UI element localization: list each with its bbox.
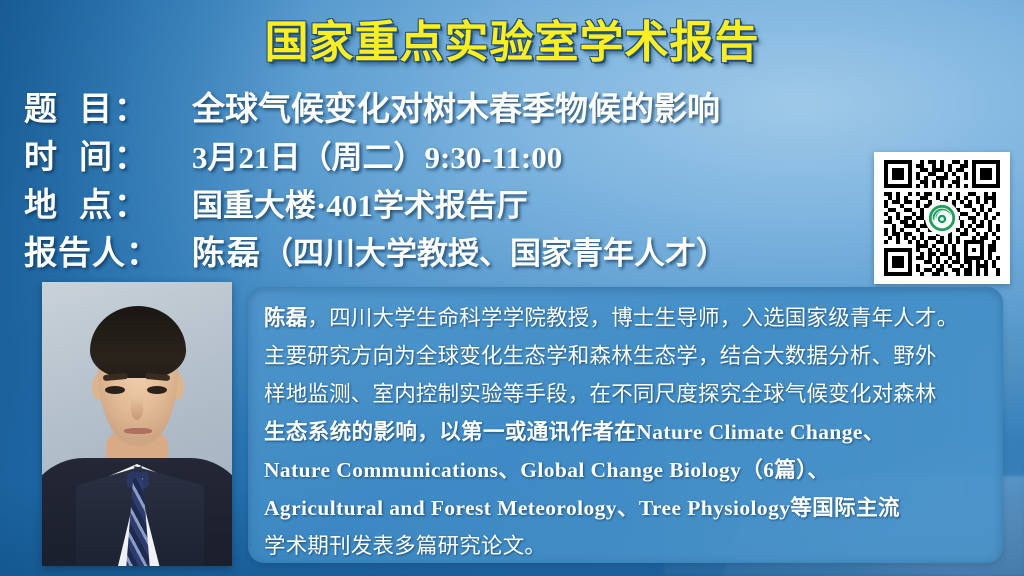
bio-line-5: Nature Communications、Global Change Biol… — [264, 451, 987, 489]
portrait-eye-right — [147, 386, 167, 394]
bio-line-6: Agricultural and Forest Meteorology、Tree… — [264, 489, 987, 527]
info-label-location: 地点： — [24, 178, 192, 226]
info-label-topic: 题目： — [24, 82, 192, 130]
info-value-time: 3月21日（周二）9:30-11:00 — [192, 132, 562, 177]
info-label-topic-colon: ： — [114, 89, 149, 128]
info-row-location: 地点： 国重大楼·401学术报告厅 — [24, 178, 854, 226]
bio-line-1-rest: ，四川大学生命科学学院教授，博士生导师，入选国家级青年人才。 — [307, 306, 958, 330]
speaker-portrait-photo — [42, 282, 232, 566]
speaker-bio-panel: 陈磊，四川大学生命科学学院教授，博士生导师，入选国家级青年人才。 主要研究方向为… — [248, 287, 1003, 563]
logo-glyph — [927, 203, 957, 233]
bio-speaker-name: 陈磊 — [264, 306, 307, 330]
speaker-bio-text: 陈磊，四川大学生命科学学院教授，博士生导师，入选国家级青年人才。 主要研究方向为… — [264, 299, 987, 565]
portrait-mouth — [124, 428, 152, 434]
qr-code-icon[interactable] — [874, 152, 1010, 284]
info-label-topic-char2: 目 — [79, 89, 114, 128]
info-label-location-colon: ： — [114, 185, 149, 224]
info-value-topic: 全球气候变化对树木春季物候的影响 — [192, 82, 720, 130]
info-label-topic-char1: 题 — [24, 89, 79, 128]
speaker-affiliation: （四川大学教授、国家青年人才） — [262, 236, 727, 271]
info-value-speaker: 陈磊（四川大学教授、国家青年人才） — [192, 226, 727, 274]
info-label-time-char1: 时 — [24, 137, 79, 176]
bio-line-1: 陈磊，四川大学生命科学学院教授，博士生导师，入选国家级青年人才。 — [264, 299, 987, 337]
info-row-time: 时间： 3月21日（周二）9:30-11:00 — [24, 130, 854, 178]
bio-line-4: 生态系统的影响，以第一或通讯作者在Nature Climate Change、 — [264, 413, 987, 451]
info-label-time-colon: ： — [114, 137, 149, 176]
info-block: 题目： 全球气候变化对树木春季物候的影响 时间： 3月21日（周二）9:30-1… — [24, 82, 854, 278]
info-label-speaker: 报告人： — [24, 226, 192, 274]
bio-line-7: 学术期刊发表多篇研究论文。 — [264, 527, 987, 565]
speaker-name: 陈磊 — [192, 236, 262, 272]
bio-line-3: 样地监测、室内控制实验等手段，在不同尺度探究全球气候变化对森林 — [264, 375, 987, 413]
info-label-location-char1: 地 — [24, 185, 79, 224]
info-row-speaker: 报告人： 陈磊（四川大学教授、国家青年人才） — [24, 226, 854, 278]
info-value-location: 国重大楼·401学术报告厅 — [192, 180, 528, 225]
info-row-topic: 题目： 全球气候变化对树木春季物候的影响 — [24, 82, 854, 130]
portrait-eye-left — [105, 386, 125, 394]
portrait-nose — [131, 398, 143, 420]
poster-title: 国家重点实验室学术报告 — [0, 6, 1024, 70]
info-label-location-char2: 点 — [79, 185, 114, 224]
info-label-time: 时间： — [24, 130, 192, 178]
seminar-poster: 国家重点实验室学术报告 题目： 全球气候变化对树木春季物候的影响 时间： 3月2… — [0, 0, 1024, 576]
info-label-time-char2: 间 — [79, 137, 114, 176]
bio-line-2: 主要研究方向为全球变化生态学和森林生态学，结合大数据分析、野外 — [264, 337, 987, 375]
circular-green-logo-icon — [927, 203, 957, 233]
